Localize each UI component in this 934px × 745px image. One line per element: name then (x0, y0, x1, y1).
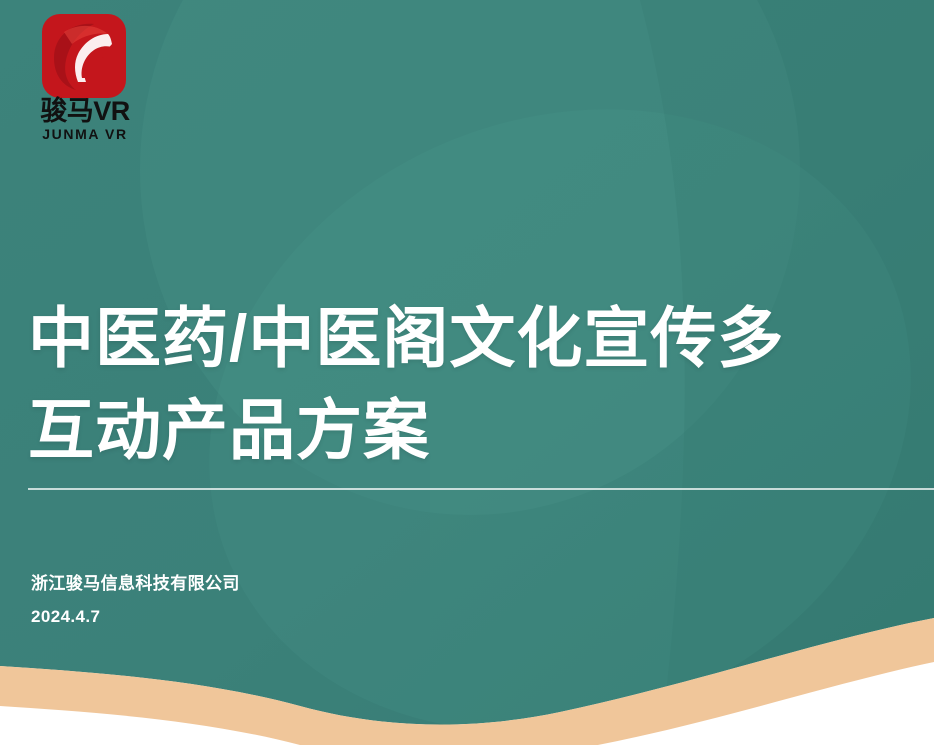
slide-title-line-2: 互动产品方案 (28, 384, 934, 476)
title-divider-rule (28, 488, 934, 490)
footer-date: 2024.4.7 (31, 604, 240, 630)
footer-company-name: 浙江骏马信息科技有限公司 (31, 571, 240, 597)
slide-title: 中医药/中医阁文化宣传多 互动产品方案 (28, 292, 934, 476)
slide-title-line-1: 中医药/中医阁文化宣传多 (28, 292, 934, 384)
slide-root: 骏马VR JUNMA VR 中医药/中医阁文化宣传多 互动产品方案 浙江骏马信息… (0, 0, 934, 745)
logo-subtitle: JUNMA VR (20, 126, 150, 142)
logo-wordmark: 骏马VR (20, 96, 150, 126)
junma-horse-head-icon (42, 14, 126, 98)
slide-footer: 浙江骏马信息科技有限公司 2024.4.7 (31, 571, 240, 630)
brand-logo: 骏马VR JUNMA VR (20, 14, 150, 142)
